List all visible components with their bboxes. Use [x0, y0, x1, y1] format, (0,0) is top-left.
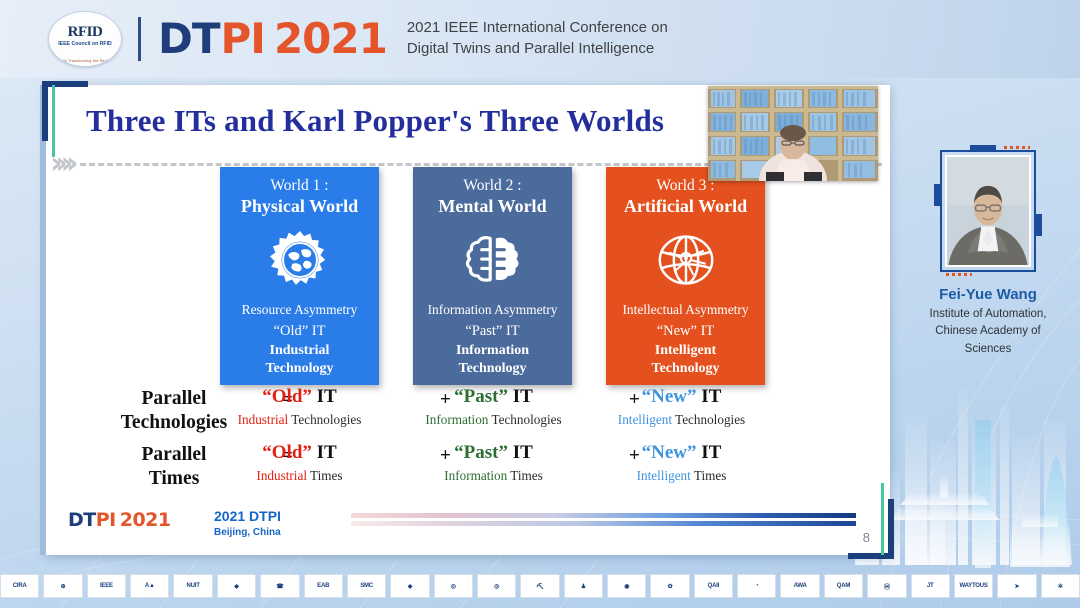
sponsor-logo-card[interactable]: QAM: [824, 574, 863, 598]
row2-past-it: “Past” IT: [406, 442, 581, 464]
row1-cell-new: “New” IT Intelligent Technologies: [594, 386, 769, 428]
network-globe-icon: [655, 227, 717, 293]
sponsor-logo-card[interactable]: AWA: [780, 574, 819, 598]
world-box-physical[interactable]: World 1 : Physical World: [220, 167, 379, 385]
sponsor-logo-strip: CIRA⊕IEEEA▲NUIT◆☎EABSMC◆◎◎⛏♟◉✿QAII◔AWAQA…: [0, 572, 1080, 600]
conference-title-line1: 2021 IEEE International Conference on: [407, 18, 668, 39]
sponsor-logo-card[interactable]: EAB: [304, 574, 343, 598]
speaker-affiliation-line3: Sciences: [965, 343, 1012, 355]
slide-footer: DT PI 2021 2021 DTPI Beijing, China 8: [46, 499, 890, 555]
row1-past-it: “Past” IT: [406, 386, 581, 408]
world-box-artificial[interactable]: World 3 : Artificial World: [606, 167, 765, 385]
world2-it-label: “Past” IT: [465, 323, 519, 340]
rfid-logo-arc-text: Radically Transforming the Real World: [49, 59, 121, 63]
row2-past-sub-rest: Times: [507, 468, 543, 483]
world1-it-label: “Old” IT: [274, 323, 326, 340]
row2-past-quoted: “Past”: [454, 442, 508, 463]
footer-logo-dt: DT: [68, 511, 96, 530]
row1-past-sub: Information Technologies: [406, 412, 581, 428]
world1-heading: World 1 :: [270, 176, 328, 195]
sponsor-logo-card[interactable]: ✿: [650, 574, 689, 598]
sponsor-logo-card[interactable]: Ⓜ: [867, 574, 906, 598]
slide-footer-text: 2021 DTPI Beijing, China: [214, 508, 281, 538]
rfid-logo-sub-text: IEEE Council on RFID: [49, 41, 121, 48]
row1-old-quoted: “Old”: [262, 386, 312, 407]
footer-event-location: Beijing, China: [214, 527, 281, 538]
world1-name: Physical World: [241, 196, 358, 218]
world1-asymmetry: Resource Asymmetry: [242, 302, 358, 318]
sponsor-logo-card[interactable]: ◔: [737, 574, 776, 598]
footer-logo-pi: PI: [96, 511, 116, 530]
row1-past-sub-strong: Information: [425, 412, 488, 427]
photo-frame-dots-bottom: [946, 273, 972, 276]
world1-tech-line2: Technology: [266, 361, 334, 376]
row2-old-it: “Old” IT: [212, 442, 387, 464]
row2-old-sub-rest: Times: [307, 468, 343, 483]
row1-old-sub-strong: Industrial: [238, 412, 289, 427]
sponsor-logo-card[interactable]: WAYTOUS: [954, 574, 993, 598]
sponsor-logo-card[interactable]: ◎: [434, 574, 473, 598]
world2-tech-line2: Technology: [459, 361, 527, 376]
sponsor-logo-card[interactable]: ⛏: [520, 574, 559, 598]
world2-technology: Information Technology: [456, 342, 529, 378]
speaker-affiliation-line2: Chinese Academy of: [935, 325, 1040, 337]
row1-new-sub-strong: Intelligent: [618, 412, 672, 427]
dtpi-wordmark-logo: DT PI 2021: [158, 18, 387, 60]
world3-heading: World 3 :: [656, 176, 714, 195]
row1-new-quoted: “New”: [642, 386, 697, 407]
sponsor-logo-card[interactable]: JT: [911, 574, 950, 598]
equation-rows: Parallel Technologies = “Old” IT Industr…: [46, 385, 890, 497]
row2-cell-past: “Past” IT Information Times: [406, 442, 581, 484]
row1-old-sub-rest: Technologies: [288, 412, 361, 427]
row1-past-it-suffix: IT: [508, 386, 533, 407]
row1-old-it: “Old” IT: [212, 386, 387, 408]
slide-page-number: 8: [863, 530, 870, 545]
world-box-mental[interactable]: World 2 : Mental World Information Asy: [413, 167, 572, 385]
row1-past-quoted: “Past”: [454, 386, 508, 407]
row2-old-quoted: “Old”: [262, 442, 312, 463]
photo-frame-tick-right: [1036, 214, 1042, 236]
row2-old-sub: Industrial Times: [212, 468, 387, 484]
sponsor-logo-card[interactable]: ✲: [1041, 574, 1080, 598]
row1-old-sub: Industrial Technologies: [212, 412, 387, 428]
row1-past-sub-rest: Technologies: [488, 412, 561, 427]
row1-old-it-suffix: IT: [312, 386, 337, 407]
sponsor-logo-card[interactable]: ◉: [607, 574, 646, 598]
slide-corner-top-left: [42, 81, 88, 141]
row2-cell-new: “New” IT Intelligent Times: [594, 442, 769, 484]
speaker-panel: Fei-Yue Wang Institute of Automation, Ch…: [905, 150, 1071, 358]
sponsor-logo-card[interactable]: IEEE: [87, 574, 126, 598]
rfid-logo-main-text: RFID: [49, 24, 121, 41]
row2-new-sub-strong: Intelligent: [637, 468, 691, 483]
sponsor-logo-card[interactable]: ➤: [997, 574, 1036, 598]
sponsor-logo-card[interactable]: A▲: [130, 574, 169, 598]
row2-label-line2: Times: [149, 468, 200, 489]
row2-old-it-suffix: IT: [312, 442, 337, 463]
equation-row-times: Parallel Times = “Old” IT Industrial Tim…: [46, 441, 890, 497]
footer-event-title: 2021 DTPI: [214, 508, 281, 525]
row2-label-line1: Parallel: [142, 444, 207, 465]
row2-new-sub: Intelligent Times: [594, 468, 769, 484]
world3-tech-line2: Technology: [652, 361, 720, 376]
gear-globe-icon: [269, 227, 331, 293]
slide-title: Three ITs and Karl Popper's Three Worlds: [86, 103, 664, 139]
footer-logo-year: 2021: [120, 511, 171, 530]
world2-heading: World 2 :: [463, 176, 521, 195]
slide-footer-logo: DT PI 2021: [64, 509, 175, 532]
row2-new-it-suffix: IT: [697, 442, 722, 463]
sponsor-logo-card[interactable]: QAII: [694, 574, 733, 598]
world3-name: Artificial World: [624, 196, 747, 218]
row1-label-line1: Parallel: [142, 388, 207, 409]
conference-title-line2: Digital Twins and Parallel Intelligence: [407, 39, 668, 60]
row2-old-sub-strong: Industrial: [256, 468, 307, 483]
world1-tech-line1: Industrial: [270, 343, 330, 358]
row1-new-it-suffix: IT: [697, 386, 722, 407]
conference-header: RFID IEEE Council on RFID Radically Tran…: [0, 0, 1080, 78]
photo-frame-tick-top: [970, 145, 996, 150]
row2-new-it: “New” IT: [594, 442, 769, 464]
speaker-affiliation-line1: Institute of Automation,: [930, 308, 1047, 320]
world2-name: Mental World: [438, 196, 546, 218]
world2-tech-line1: Information: [456, 343, 529, 358]
row2-new-sub-rest: Times: [691, 468, 727, 483]
sponsor-logo-card[interactable]: ☎: [260, 574, 299, 598]
world3-it-label: “New” IT: [657, 323, 715, 340]
row2-new-quoted: “New”: [642, 442, 697, 463]
speaker-photo-frame: [940, 150, 1036, 272]
sponsor-logo-card[interactable]: ♟: [564, 574, 603, 598]
dtpi-logo-year: 2021: [274, 18, 387, 60]
row1-new-sub: Intelligent Technologies: [594, 412, 769, 428]
conference-title-block: 2021 IEEE International Conference on Di…: [407, 18, 668, 59]
speaker-portrait-photo: [945, 155, 1031, 267]
row1-new-sub-rest: Technologies: [672, 412, 745, 427]
footer-gradient-bar-2: [351, 521, 856, 526]
sponsor-logo-card[interactable]: ⊕: [43, 574, 82, 598]
sponsor-logo-card[interactable]: ◎: [477, 574, 516, 598]
speaker-name: Fei-Yue Wang: [905, 286, 1071, 303]
row1-cell-old: “Old” IT Industrial Technologies: [212, 386, 387, 428]
row2-past-it-suffix: IT: [508, 442, 533, 463]
sponsor-logo-card[interactable]: SMC: [347, 574, 386, 598]
rfid-council-logo: RFID IEEE Council on RFID Radically Tran…: [48, 11, 122, 67]
presenter-webcam-video[interactable]: [708, 86, 878, 181]
sponsor-logo-card[interactable]: CIRA: [0, 574, 39, 598]
sponsor-logo-card[interactable]: NUIT: [173, 574, 212, 598]
world3-tech-line1: Intelligent: [655, 343, 716, 358]
sponsor-logo-card[interactable]: ◆: [217, 574, 256, 598]
sponsor-logo-card[interactable]: ◆: [390, 574, 429, 598]
brain-icon: [463, 227, 523, 293]
header-divider: [138, 17, 141, 61]
footer-gradient-bar-1: [351, 513, 856, 518]
world2-asymmetry: Information Asymmetry: [428, 302, 558, 318]
equation-row-technologies: Parallel Technologies = “Old” IT Industr…: [46, 385, 890, 441]
row1-new-it: “New” IT: [594, 386, 769, 408]
speaker-affiliation: Institute of Automation, Chinese Academy…: [905, 306, 1071, 358]
row2-past-sub-strong: Information: [444, 468, 507, 483]
dtpi-logo-dt: DT: [158, 18, 220, 60]
world3-asymmetry: Intellectual Asymmetry: [622, 302, 748, 318]
world1-technology: Industrial Technology: [266, 342, 334, 378]
row2-past-sub: Information Times: [406, 468, 581, 484]
world3-technology: Intelligent Technology: [652, 342, 720, 378]
row2-cell-old: “Old” IT Industrial Times: [212, 442, 387, 484]
photo-frame-tick-left: [934, 184, 940, 206]
photo-frame-dots-top: [1004, 146, 1030, 149]
row1-cell-past: “Past” IT Information Technologies: [406, 386, 581, 428]
dtpi-logo-pi: PI: [221, 18, 265, 60]
